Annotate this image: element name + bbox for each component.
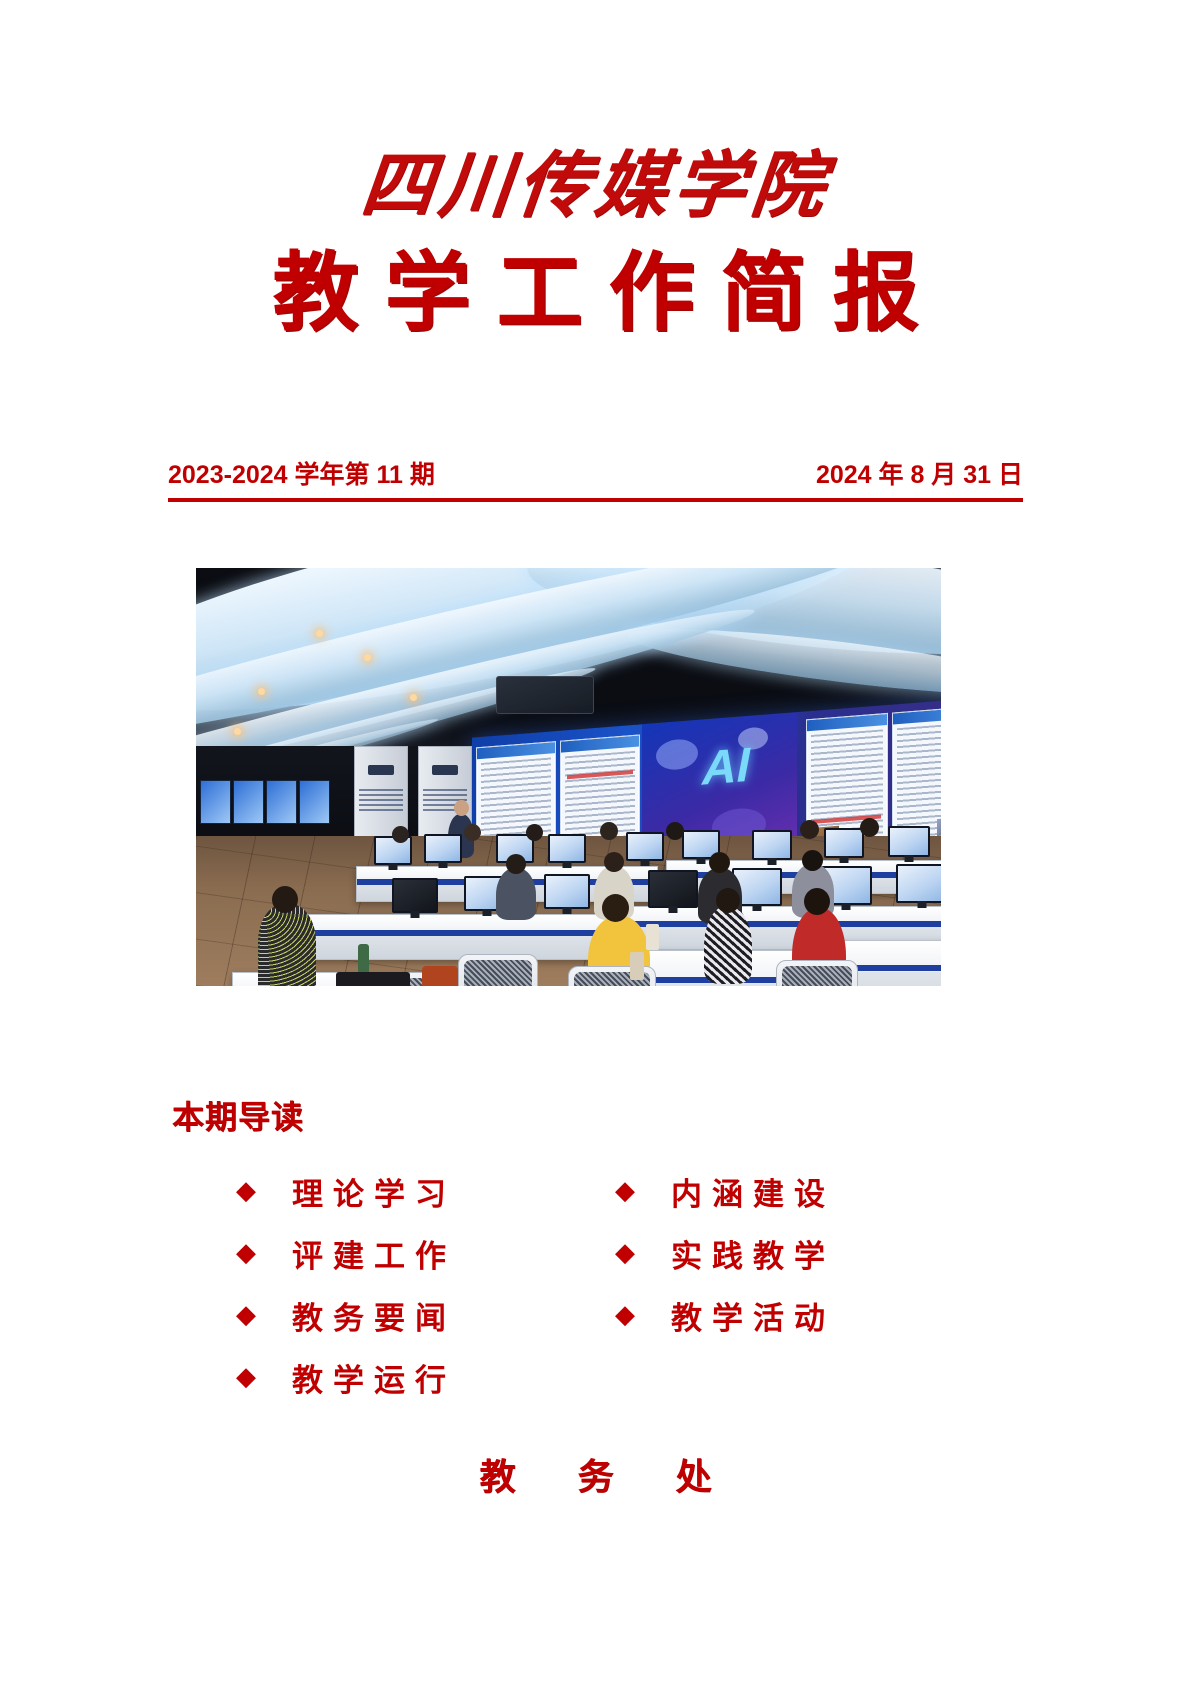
attendee-head [666, 822, 684, 840]
cover-photo-scene: AI [196, 568, 941, 986]
attendee-head [604, 852, 624, 872]
bulletin-cover-page: 四川传媒学院 教学工作简报 2023-2024 学年第 11 期 2024 年 … [0, 0, 1191, 1684]
ceiling-spotlight [364, 654, 371, 661]
contents-item[interactable]: ◆ 教学活动 [615, 1293, 956, 1338]
ceiling-spotlight [234, 728, 241, 735]
diamond-bullet-icon: ◆ [615, 1178, 671, 1204]
desktop-monitor [648, 870, 698, 908]
attendee-head [600, 822, 618, 840]
contents-item-label: 教学活动 [671, 1293, 835, 1338]
attendee-head [800, 820, 819, 839]
contents-item[interactable]: ◆ 教学运行 [236, 1355, 615, 1400]
contents-heading: 本期导读 [172, 1092, 304, 1138]
coffee-cup [630, 952, 644, 980]
desktop-monitor [824, 828, 864, 858]
desktop-monitor [888, 826, 930, 857]
ceiling-spotlight [258, 688, 265, 695]
desktop-monitor [548, 834, 586, 863]
attendee-head [602, 894, 629, 922]
bulletin-title: 教学工作简报 [0, 248, 1191, 338]
wall-monitor-grid [200, 780, 330, 824]
attendee [704, 906, 752, 984]
attendee-head [506, 854, 526, 874]
laptop-bag [336, 972, 410, 986]
attendee-front-left [258, 904, 316, 986]
attendee-head [716, 888, 740, 913]
contents-item-label: 评建工作 [292, 1231, 456, 1276]
contents-item-label: 内涵建设 [671, 1169, 835, 1214]
contents-item[interactable]: ◆ 理论学习 [236, 1169, 615, 1214]
contents-row: ◆ 评建工作 ◆ 实践教学 [236, 1222, 956, 1284]
attendee-head [804, 888, 830, 915]
desktop-monitor [896, 864, 941, 903]
contents-item-label: 教务要闻 [292, 1293, 456, 1338]
backpack [422, 966, 458, 986]
diamond-bullet-icon: ◆ [615, 1302, 671, 1328]
desktop-monitor [544, 874, 590, 909]
presenter-head [454, 800, 469, 816]
issue-number: 2023-2024 学年第 11 期 [168, 455, 435, 491]
contents-item-label: 理论学习 [292, 1169, 456, 1214]
footer: 教务处 [0, 1448, 1191, 1500]
contents-item[interactable]: ◆ 内涵建设 [615, 1169, 956, 1214]
publication-date: 2024 年 8 月 31 日 [816, 455, 1023, 491]
office-chair [458, 954, 538, 986]
office-chair [776, 960, 858, 986]
issue-date-line: 2023-2024 学年第 11 期 2024 年 8 月 31 日 [168, 455, 1023, 491]
attendee-head [272, 886, 298, 913]
contents-item[interactable]: ◆ 评建工作 [236, 1231, 615, 1276]
diamond-bullet-icon: ◆ [236, 1240, 292, 1266]
diamond-bullet-icon: ◆ [236, 1364, 292, 1390]
contents-list: ◆ 理论学习 ◆ 内涵建设 ◆ 评建工作 ◆ 实践教学 ◆ 教务要闻 [236, 1160, 956, 1408]
contents-item[interactable]: ◆ 教务要闻 [236, 1293, 615, 1338]
ai-logo-icon: AI [702, 738, 750, 797]
header-divider-rule [168, 498, 1023, 502]
desktop-monitor [424, 834, 462, 863]
workstation-desk [306, 914, 608, 960]
diamond-bullet-icon: ◆ [615, 1240, 671, 1266]
attendee-head [464, 824, 481, 841]
ceiling-spotlight [316, 630, 323, 637]
contents-item[interactable]: ◆ 实践教学 [615, 1231, 956, 1276]
attendee-head [709, 852, 730, 873]
desktop-monitor [392, 878, 438, 913]
attendee-head [860, 818, 879, 837]
coffee-cup [646, 924, 659, 950]
diamond-bullet-icon: ◆ [236, 1302, 292, 1328]
ceiling-air-vent [496, 676, 594, 714]
school-name: 四川传媒学院 [0, 150, 1191, 222]
attendee-head [802, 850, 823, 871]
contents-item-placeholder: ◆ [615, 1364, 956, 1390]
attendee-head [526, 824, 543, 841]
contents-row: ◆ 理论学习 ◆ 内涵建设 [236, 1160, 956, 1222]
issuing-department: 教务处 [417, 1448, 773, 1500]
masthead: 四川传媒学院 教学工作简报 [0, 150, 1191, 338]
diamond-bullet-icon: ◆ [236, 1178, 292, 1204]
desktop-monitor [752, 830, 792, 860]
cover-photo: AI [196, 568, 941, 986]
contents-item-label: 实践教学 [671, 1231, 835, 1276]
attendee [496, 868, 536, 920]
contents-item-label: 教学运行 [292, 1355, 456, 1400]
contents-row: ◆ 教务要闻 ◆ 教学活动 [236, 1284, 956, 1346]
contents-row: ◆ 教学运行 ◆ [236, 1346, 956, 1408]
ceiling-spotlight [410, 694, 417, 701]
desktop-monitor [626, 832, 664, 861]
attendee-head [392, 826, 409, 843]
water-bottle [358, 944, 369, 974]
